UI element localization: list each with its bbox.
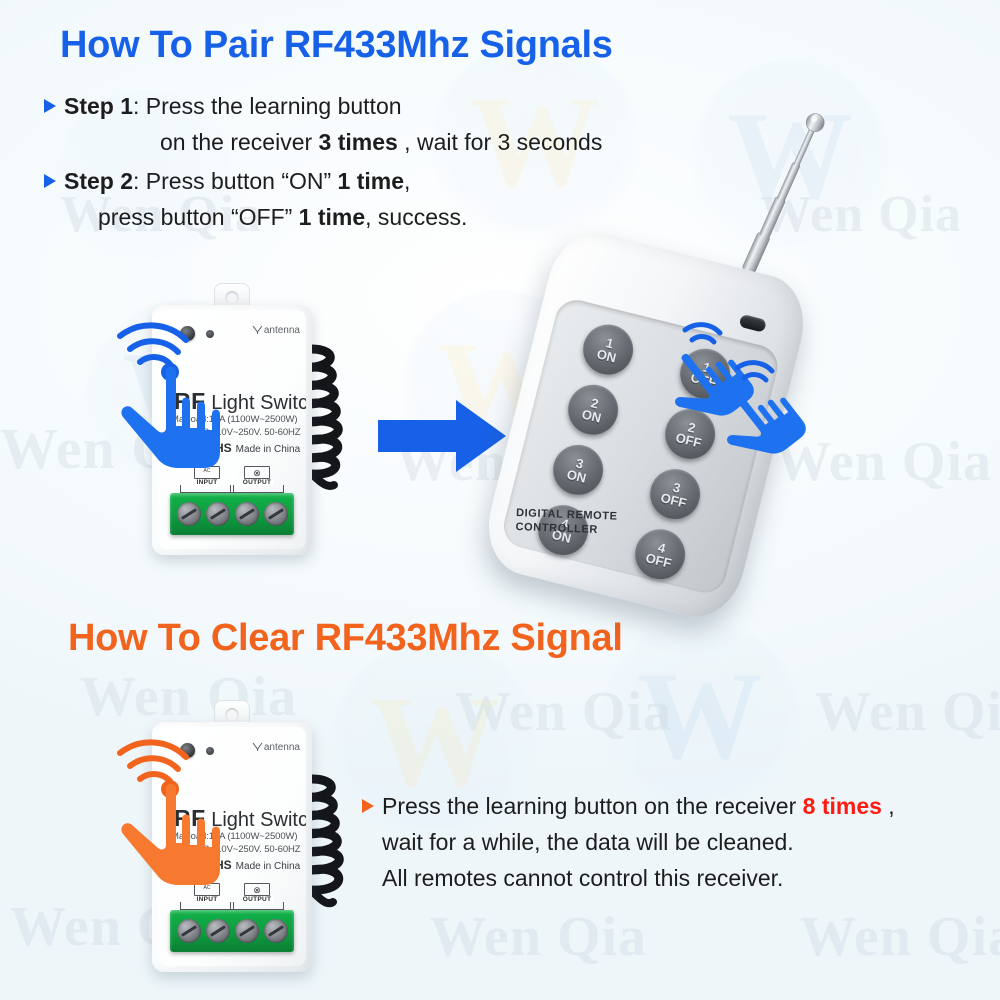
output-bracket bbox=[230, 902, 284, 910]
receiver-face: antenna RF Light Switch Maxload:10A (110… bbox=[158, 727, 306, 966]
step1-times-bold: 3 times bbox=[319, 129, 398, 155]
cert-origin: Made in China bbox=[236, 444, 300, 455]
status-led-icon bbox=[206, 330, 214, 338]
bullet-triangle-icon bbox=[362, 799, 374, 813]
watermark-text: Wen Qia bbox=[775, 430, 992, 494]
step2-line2-suffix: , success. bbox=[365, 204, 467, 230]
receiver-body: antenna RF Light Switch Maxload:10A (110… bbox=[152, 722, 312, 972]
step2-label: Step 2 bbox=[64, 168, 133, 194]
terminal-screw bbox=[177, 502, 201, 526]
right-arrow-icon bbox=[378, 398, 506, 474]
cert-marks: CE FC bbox=[171, 861, 196, 872]
watermark-logo-6: W bbox=[600, 620, 800, 820]
rf-receiver-module-1: antenna RF Light Switch Maxload:10A (110… bbox=[152, 305, 312, 555]
button-state: OFF bbox=[659, 491, 687, 510]
step1-line2-suffix: , wait for 3 seconds bbox=[398, 129, 603, 155]
terminal-screw bbox=[206, 919, 230, 943]
receiver-spec-maxload: Maxload:10A (1100W~2500W) bbox=[171, 831, 297, 842]
terminal-markings: AC INPUT ⊗ OUTPUT bbox=[174, 883, 290, 911]
clear-times-bold: 8 times bbox=[803, 793, 882, 819]
antenna-label: antenna bbox=[252, 741, 300, 753]
remote-brand-label: DIGITAL REMOTE CONTROLLER bbox=[516, 507, 618, 531]
receiver-brand: RF Light Switch bbox=[174, 388, 306, 415]
receiver-brand-rf: RF bbox=[174, 805, 206, 831]
step1-line2-prefix: on the receiver bbox=[160, 129, 319, 155]
ac-icon: AC bbox=[194, 883, 220, 896]
clear-line2: wait for a while, the data will be clean… bbox=[382, 828, 794, 857]
bullet-triangle-icon bbox=[44, 99, 56, 113]
clear-line1: Press the learning button on the receive… bbox=[362, 792, 895, 821]
button-state: OFF bbox=[689, 371, 717, 390]
terminal-screw bbox=[206, 502, 230, 526]
output-terminal-group: ⊗ OUTPUT bbox=[228, 466, 286, 492]
step1-line1-text: : Press the learning button bbox=[133, 93, 402, 119]
infographic-canvas: W W W W W W Wen Qia Wen Qia Wen Qia Wen … bbox=[0, 0, 1000, 1000]
receiver-spec-maxload: Maxload:10A (1100W~2500W) bbox=[171, 414, 297, 425]
receiver-body: antenna RF Light Switch Maxload:10A (110… bbox=[152, 305, 312, 555]
lamp-icon: ⊗ bbox=[244, 466, 270, 479]
status-led-icon bbox=[206, 747, 214, 755]
watermark-text: Wen Qia bbox=[80, 665, 297, 729]
button-state: OFF bbox=[674, 431, 702, 450]
button-state: ON bbox=[565, 468, 587, 486]
terminal-screw bbox=[235, 919, 259, 943]
ac-icon: AC bbox=[194, 466, 220, 479]
terminal-screw bbox=[235, 502, 259, 526]
step2-time-bold-on: 1 time bbox=[338, 168, 404, 194]
step2-line1-suffix: , bbox=[404, 168, 410, 194]
step2-time-bold-off: 1 time bbox=[299, 204, 365, 230]
terminal-screw bbox=[177, 919, 201, 943]
watermark-text: Wen Qia bbox=[800, 905, 1000, 969]
antenna-label-text: antenna bbox=[264, 742, 300, 753]
clear-line1-suffix: , bbox=[882, 793, 895, 819]
cert-rohs: RoHS bbox=[199, 858, 232, 872]
ac-icon-text: AC bbox=[204, 885, 211, 891]
receiver-brand-rest: Light Switch bbox=[206, 392, 306, 414]
terminal-screw bbox=[264, 502, 288, 526]
step2-line2: press button “OFF” 1 time, success. bbox=[98, 203, 467, 232]
terminal-markings: AC INPUT ⊗ OUTPUT bbox=[174, 466, 290, 494]
rf-receiver-module-2: antenna RF Light Switch Maxload:10A (110… bbox=[152, 722, 312, 972]
terminal-block bbox=[170, 910, 294, 952]
learning-button[interactable] bbox=[180, 326, 195, 341]
receiver-brand-rf: RF bbox=[174, 388, 206, 414]
bullet-triangle-icon bbox=[44, 174, 56, 188]
rf-remote-control: 1 ON 1 OFF 2 ON 2 OFF 3 ON 3 OFF bbox=[516, 250, 776, 600]
watermark-text: Wen Qia bbox=[815, 680, 1000, 744]
antenna-icon bbox=[252, 742, 263, 751]
terminal-block bbox=[170, 493, 294, 535]
step2-line1: Step 2: Press button “ON” 1 time, bbox=[44, 167, 410, 196]
receiver-brand-rest: Light Switch bbox=[206, 809, 306, 831]
input-bracket bbox=[180, 902, 234, 910]
receiver-spec-input: Input: AC 110V~250V. 50-60HZ bbox=[171, 427, 301, 438]
cert-rohs: RoHS bbox=[199, 441, 232, 455]
button-state: OFF bbox=[644, 551, 672, 570]
ac-icon-text: AC bbox=[204, 468, 211, 474]
input-bracket bbox=[180, 485, 234, 493]
clear-line3: All remotes cannot control this receiver… bbox=[382, 864, 783, 893]
terminal-screw bbox=[264, 919, 288, 943]
cert-origin: Made in China bbox=[236, 861, 300, 872]
step1-line1: Step 1: Press the learning button bbox=[44, 92, 402, 121]
receiver-certifications: CE FCRoHSMade in China bbox=[171, 441, 300, 455]
receiver-brand: RF Light Switch bbox=[174, 805, 306, 832]
page-title-pair: How To Pair RF433Mhz Signals bbox=[60, 24, 613, 67]
watermark-text: Wen Qia bbox=[430, 905, 647, 969]
step2-line1-prefix: : Press button “ON” bbox=[133, 168, 338, 194]
antenna-label-text: antenna bbox=[264, 325, 300, 336]
antenna-label: antenna bbox=[252, 324, 300, 336]
antenna-icon bbox=[252, 325, 263, 334]
step1-label: Step 1 bbox=[64, 93, 133, 119]
receiver-certifications: CE FCRoHSMade in China bbox=[171, 858, 300, 872]
output-bracket bbox=[230, 485, 284, 493]
lamp-icon: ⊗ bbox=[244, 883, 270, 896]
button-state: ON bbox=[580, 407, 602, 425]
clear-line1-prefix: Press the learning button on the receive… bbox=[382, 793, 803, 819]
receiver-face: antenna RF Light Switch Maxload:10A (110… bbox=[158, 310, 306, 549]
learning-button[interactable] bbox=[180, 743, 195, 758]
button-state: ON bbox=[595, 347, 617, 365]
step1-line2: on the receiver 3 times , wait for 3 sec… bbox=[160, 128, 602, 157]
receiver-spec-input: Input: AC 110V~250V. 50-60HZ bbox=[171, 844, 301, 855]
cert-marks: CE FC bbox=[171, 444, 196, 455]
output-terminal-group: ⊗ OUTPUT bbox=[228, 883, 286, 909]
page-title-clear: How To Clear RF433Mhz Signal bbox=[68, 617, 623, 660]
step2-line2-prefix: press button “OFF” bbox=[98, 204, 299, 230]
watermark-text: Wen Qia bbox=[455, 680, 672, 744]
